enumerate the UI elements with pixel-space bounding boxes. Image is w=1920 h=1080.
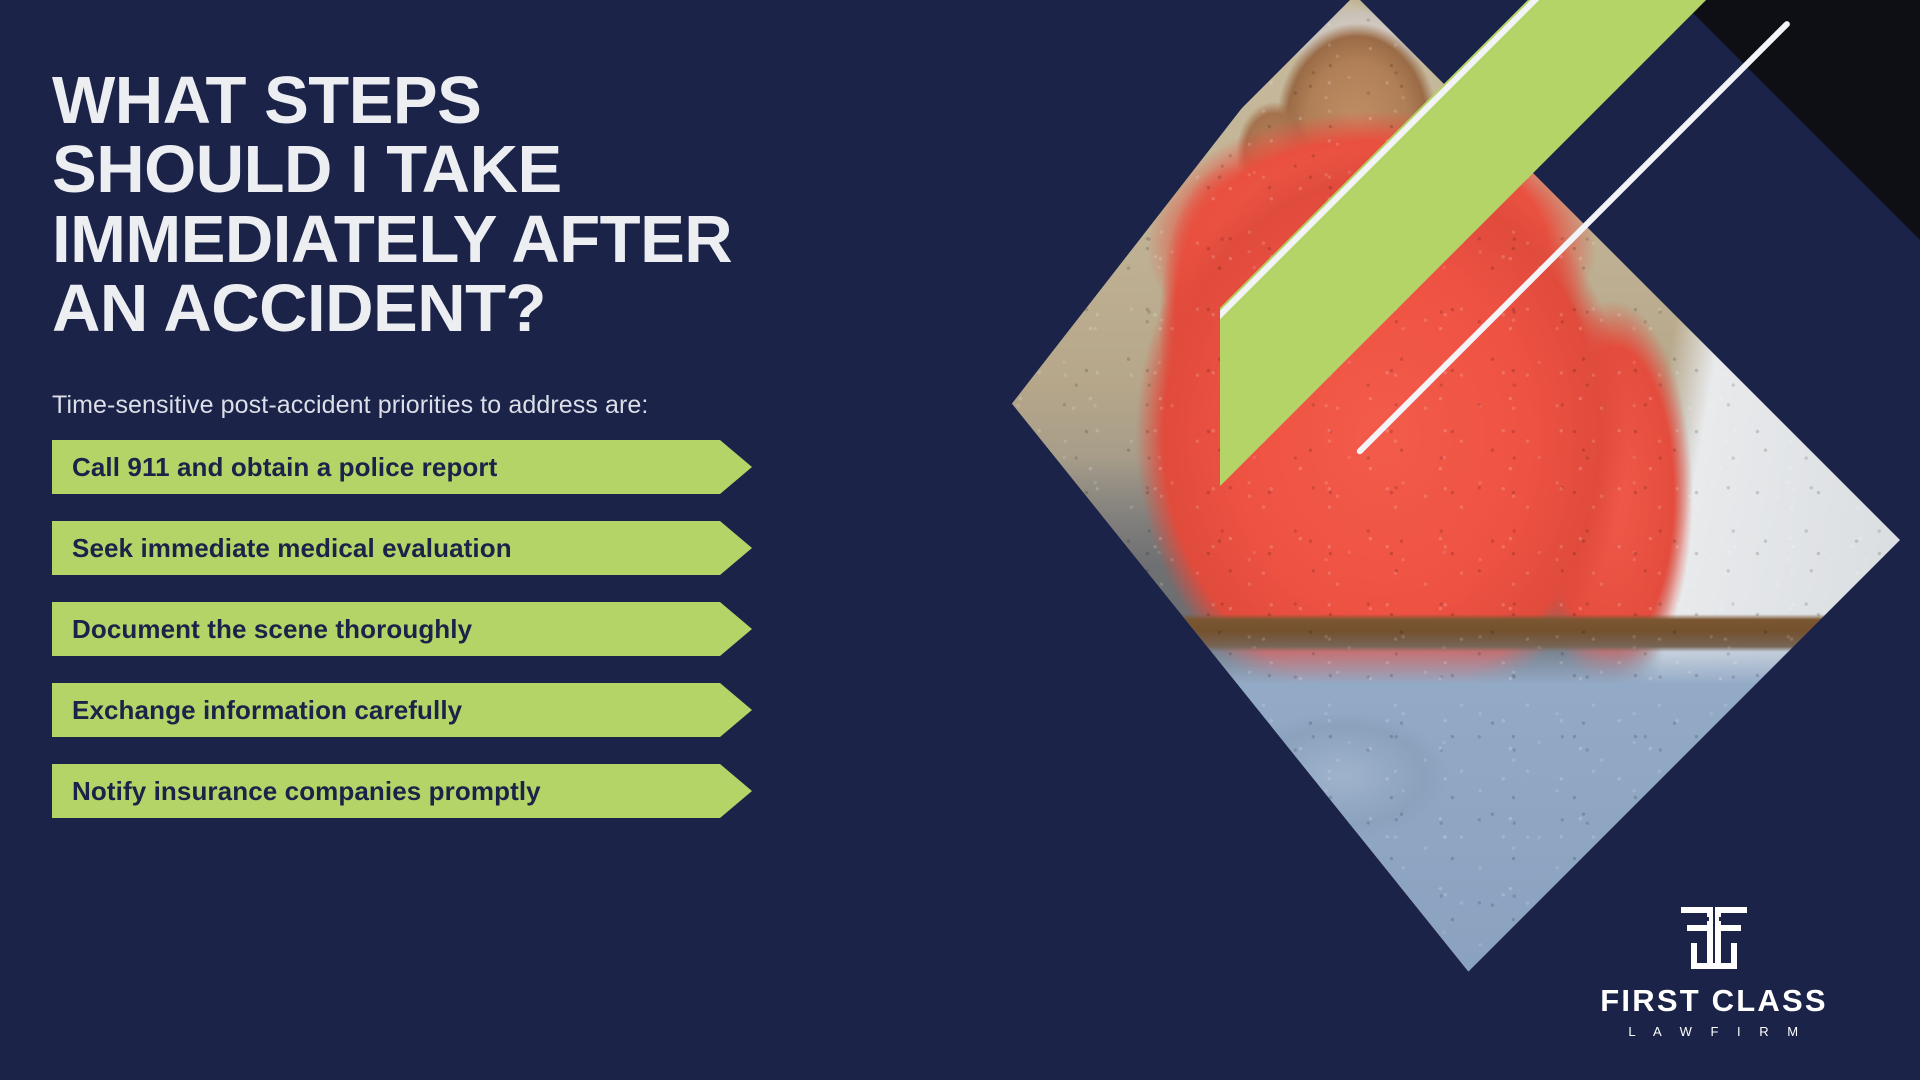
- step-label: Exchange information carefully: [52, 695, 462, 726]
- first-class-monogram-icon: [1677, 903, 1751, 973]
- step-label: Notify insurance companies promptly: [52, 776, 541, 807]
- headline-line-2: SHOULD I TAKE: [52, 135, 812, 204]
- dry-grass-texture: [1312, 0, 1642, 56]
- headline-line-1: WHAT STEPS: [52, 66, 812, 135]
- windshield-crack-lines: [1672, 96, 1920, 316]
- step-label: Seek immediate medical evaluation: [52, 533, 512, 564]
- list-item: Seek immediate medical evaluation: [52, 521, 752, 575]
- headline-line-4: AN ACCIDENT?: [52, 274, 812, 343]
- logo-tagline: L A W F I R M: [1564, 1025, 1864, 1038]
- page-title: WHAT STEPS SHOULD I TAKE IMMEDIATELY AFT…: [52, 0, 812, 343]
- content-column: WHAT STEPS SHOULD I TAKE IMMEDIATELY AFT…: [52, 0, 812, 1080]
- headline-line-3: IMMEDIATELY AFTER: [52, 205, 812, 274]
- list-item: Notify insurance companies promptly: [52, 764, 752, 818]
- steps-list: Call 911 and obtain a police report Seek…: [52, 440, 752, 845]
- step-label: Call 911 and obtain a police report: [52, 452, 497, 483]
- list-item: Exchange information carefully: [52, 683, 752, 737]
- logo-name: FIRST CLASS: [1564, 985, 1864, 1016]
- infographic-canvas: WHAT STEPS SHOULD I TAKE IMMEDIATELY AFT…: [0, 0, 1920, 1080]
- list-item: Call 911 and obtain a police report: [52, 440, 752, 494]
- brand-logo: FIRST CLASS L A W F I R M: [1564, 903, 1864, 1038]
- step-label: Document the scene thoroughly: [52, 614, 472, 645]
- list-item: Document the scene thoroughly: [52, 602, 752, 656]
- subtitle: Time-sensitive post-accident priorities …: [52, 343, 812, 420]
